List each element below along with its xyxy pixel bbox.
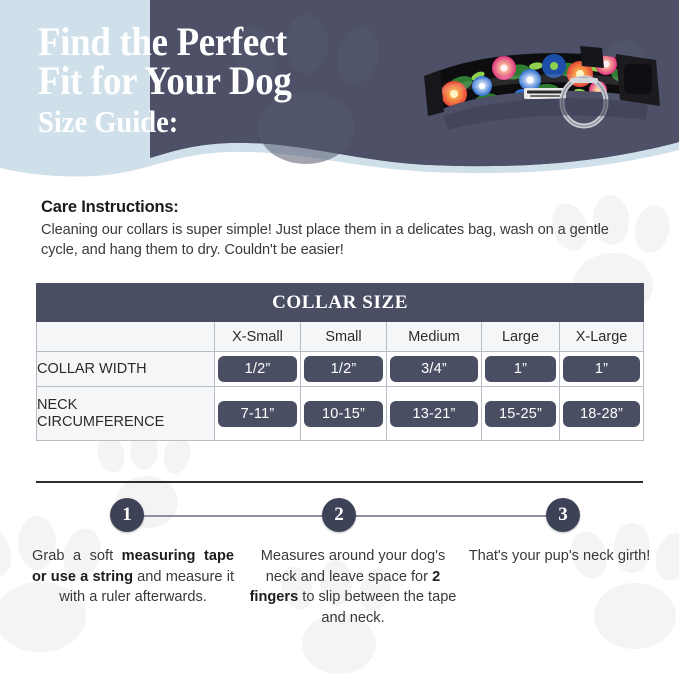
row-label-neck-circumference: NECK CIRCUMFERENCE: [37, 387, 215, 441]
step-text-2: Measures around your dog's neck and leav…: [240, 546, 466, 628]
table-row: COLLAR WIDTH 1/2” 1/2” 3/4” 1” 1”: [37, 352, 644, 387]
column-header-xlarge: X-Large: [560, 322, 644, 352]
cell-neck-medium: 13-21”: [387, 387, 482, 441]
collar-size-table: COLLAR SIZE X-Small Small Medium Large X…: [36, 283, 643, 441]
header-banner: Find the Perfect Fit for Your Dog Size G…: [0, 0, 679, 180]
cell-neck-xsmall: 7-11”: [215, 387, 301, 441]
cell-collar-width-small: 1/2”: [301, 352, 387, 387]
row-label-line-1: NECK: [37, 397, 77, 413]
step-number-2: 2: [322, 498, 356, 532]
title-line-1: Find the Perfect: [38, 22, 292, 61]
table-header-row: X-Small Small Medium Large X-Large: [37, 322, 644, 352]
table-row: NECK CIRCUMFERENCE 7-11” 10-15” 13-21” 1…: [37, 387, 644, 441]
title-line-2: Fit for Your Dog: [38, 61, 292, 100]
row-label-line-2: CIRCUMFERENCE: [37, 414, 164, 430]
size-guide-infographic: Find the Perfect Fit for Your Dog Size G…: [0, 0, 679, 679]
cell-collar-width-xlarge: 1”: [560, 352, 644, 387]
steps-track: 1 2 3: [0, 498, 679, 534]
cell-collar-width-xsmall: 1/2”: [215, 352, 301, 387]
cell-neck-small: 10-15”: [301, 387, 387, 441]
cell-neck-xlarge: 18-28”: [560, 387, 644, 441]
table-title-row: COLLAR SIZE: [37, 284, 644, 322]
page-subtitle: Size Guide:: [38, 102, 292, 142]
column-header-large: Large: [482, 322, 560, 352]
step-descriptions: Grab a soft measuring tape or use a stri…: [0, 546, 679, 628]
corner-cell: [37, 322, 215, 352]
measuring-steps-section: 1 2 3 Grab a soft measuring tape or use …: [0, 498, 679, 628]
page-title: Find the Perfect Fit for Your Dog Size G…: [38, 22, 314, 142]
care-instructions-text: Cleaning our collars is super simple! Ju…: [41, 220, 611, 260]
step-text-3: That's your pup's neck girth!: [466, 546, 653, 628]
care-instructions-heading: Care Instructions:: [41, 198, 611, 217]
column-header-small: Small: [301, 322, 387, 352]
cell-collar-width-large: 1”: [482, 352, 560, 387]
column-header-medium: Medium: [387, 322, 482, 352]
cell-neck-large: 15-25”: [482, 387, 560, 441]
step-number-1: 1: [110, 498, 144, 532]
cell-collar-width-medium: 3/4”: [387, 352, 482, 387]
row-label-collar-width: COLLAR WIDTH: [37, 352, 215, 387]
step-number-3: 3: [546, 498, 580, 532]
care-instructions-section: Care Instructions: Cleaning our collars …: [41, 198, 611, 260]
table-title: COLLAR SIZE: [37, 284, 644, 322]
step-text-1: Grab a soft measuring tape or use a stri…: [26, 546, 240, 628]
dog-collar-product-image: [420, 28, 668, 158]
column-header-xsmall: X-Small: [215, 322, 301, 352]
section-divider: [36, 481, 643, 483]
